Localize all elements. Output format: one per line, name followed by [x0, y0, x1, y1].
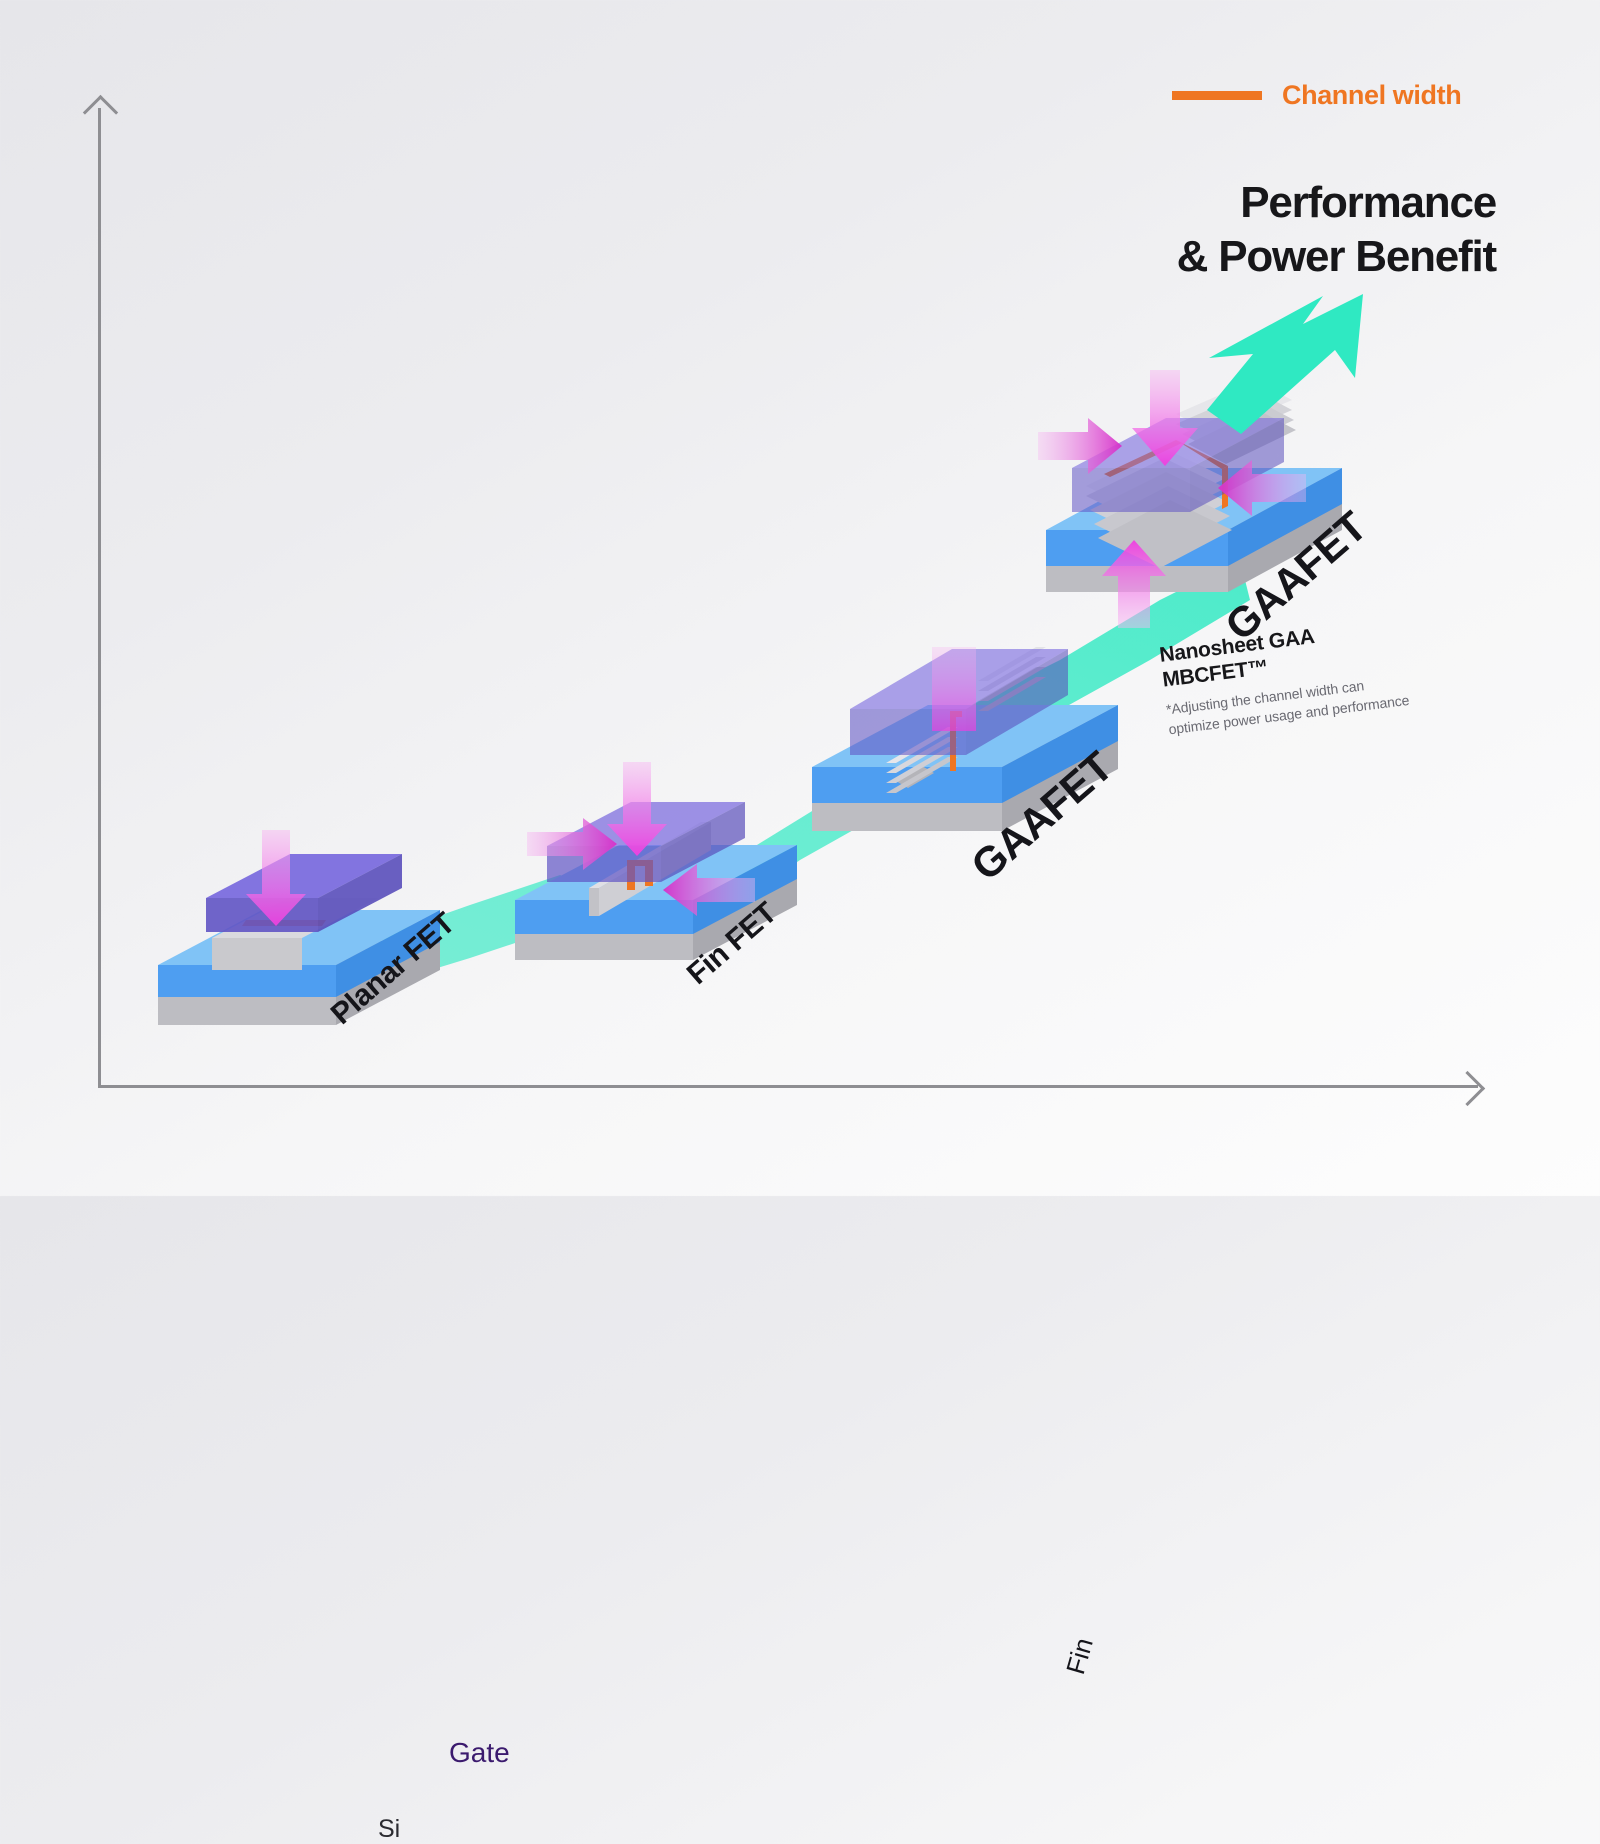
growth-arrow-icon: [1195, 292, 1380, 442]
transistor-fin-fet: Fin: [505, 760, 805, 995]
page-title: Performance & Power Benefit: [1166, 176, 1496, 283]
page-title-line1: Performance: [1166, 176, 1496, 230]
x-axis-arrow-icon: [1450, 1071, 1485, 1106]
page-title-line2: & Power Benefit: [1166, 230, 1496, 284]
label-fin: Fin: [1060, 1635, 1100, 1678]
x-axis: [98, 1085, 1478, 1088]
label-si: Si: [378, 1815, 400, 1844]
transistor-gaafet-nanowire: Nanowire: [800, 605, 1130, 865]
legend-swatch-channel-width: [1172, 91, 1262, 100]
legend-label-channel-width: Channel width: [1282, 80, 1461, 111]
diagram-canvas: Si Gate Planar FET: [0, 0, 1600, 1196]
label-gate: Gate: [449, 1737, 510, 1769]
y-axis: [98, 108, 101, 1088]
legend: Channel width: [1172, 80, 1461, 111]
y-axis-arrow-icon: [83, 95, 118, 130]
